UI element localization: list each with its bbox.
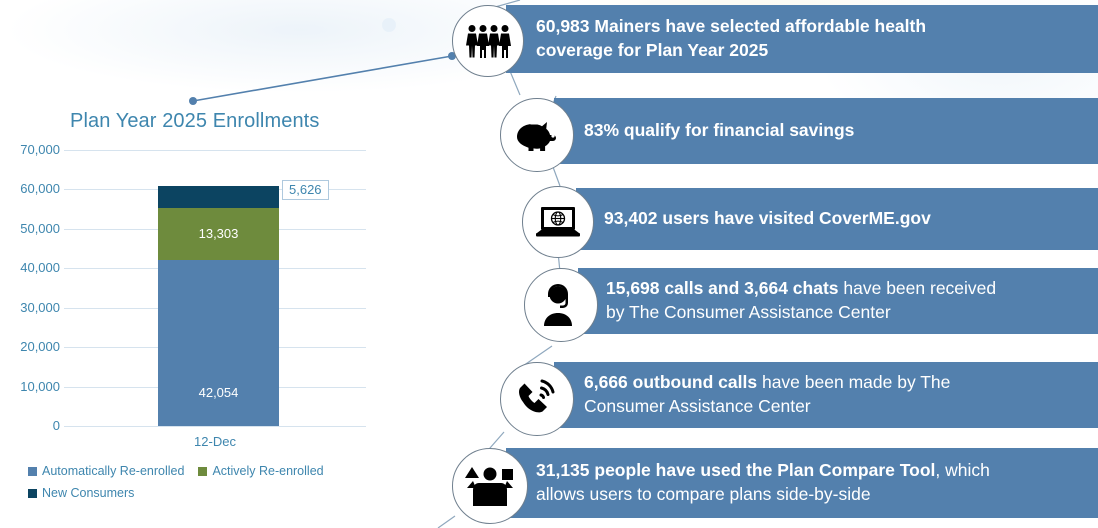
headset-agent-glyph: [538, 284, 584, 326]
stat-band: 31,135 people have used the Plan Compare…: [506, 448, 1098, 518]
stat-text-regular: have been received: [839, 278, 997, 298]
legend-item-new-consumers[interactable]: New Consumers: [28, 486, 134, 500]
ringing-phone-icon: [500, 362, 574, 436]
stat-row-enrollments[interactable]: 60,983 Mainers have selected affordable …: [452, 5, 1098, 85]
stacked-bar-12-dec[interactable]: 13,303 42,054: [158, 186, 279, 426]
legend-swatch: [28, 489, 37, 498]
legend-swatch: [198, 467, 207, 476]
legend-label: Actively Re-enrolled: [212, 464, 323, 478]
stat-row-website-visits[interactable]: 93,402 users have visited CoverME.gov: [522, 188, 1098, 254]
bar-segment-actively-re-enrolled[interactable]: 13,303: [158, 208, 279, 260]
four-people-icon: [452, 5, 524, 77]
stat-text-bold-2: coverage for Plan Year 2025: [536, 40, 768, 60]
stat-row-outbound-calls[interactable]: 6,666 outbound calls have been made by T…: [500, 362, 1098, 440]
stat-text-regular: have been made by The: [757, 372, 950, 392]
laptop-globe-glyph: [534, 203, 582, 241]
y-axis-tick: 70,000: [0, 142, 60, 157]
plan-compare-glyph: [464, 466, 516, 506]
stat-text-bold: 15,698 calls and 3,664 chats: [606, 278, 839, 298]
gridline: [64, 426, 366, 427]
y-axis-tick: 50,000: [0, 221, 60, 236]
bar-segment-automatically-re-enrolled[interactable]: 42,054: [158, 260, 279, 426]
stat-text-regular: , which: [935, 460, 989, 480]
legend-label: Automatically Re-enrolled: [42, 464, 184, 478]
stat-band: 6,666 outbound calls have been made by T…: [554, 362, 1098, 428]
chart-plot-area: 70,000 60,000 50,000 40,000 30,000 20,00…: [64, 150, 366, 426]
stat-text-regular-2: by The Consumer Assistance Center: [606, 302, 891, 322]
piggy-bank-icon: [500, 98, 574, 172]
legend-label: New Consumers: [42, 486, 134, 500]
bar-segment-new-consumers[interactable]: [158, 186, 279, 208]
enrollment-chart: Plan Year 2025 Enrollments 70,000 60,000…: [0, 96, 440, 528]
headset-agent-icon: [524, 268, 598, 342]
legend-item-actively-re-enrolled[interactable]: Actively Re-enrolled: [198, 464, 323, 478]
stat-row-plan-compare-tool[interactable]: 31,135 people have used the Plan Compare…: [452, 448, 1098, 528]
y-axis-tick: 0: [0, 418, 60, 433]
chart-title: Plan Year 2025 Enrollments: [70, 110, 319, 133]
stat-band: 60,983 Mainers have selected affordable …: [506, 5, 1098, 73]
bar-label-actively-re-enrolled: 13,303: [199, 226, 239, 241]
stat-text-regular-2: Consumer Assistance Center: [584, 396, 811, 416]
ringing-phone-glyph: [514, 376, 560, 422]
y-axis-tick: 60,000: [0, 181, 60, 196]
stat-text-bold: 83% qualify for financial savings: [584, 120, 854, 140]
legend-item-automatically-re-enrolled[interactable]: Automatically Re-enrolled: [28, 464, 184, 478]
bar-label-automatically-re-enrolled: 42,054: [199, 385, 239, 400]
watermark-dot: [382, 18, 396, 32]
stat-text-bold: 93,402 users have visited CoverME.gov: [604, 208, 931, 228]
stat-band: 15,698 calls and 3,664 chats have been r…: [578, 268, 1098, 334]
stat-text-bold: 60,983 Mainers have selected affordable …: [536, 16, 926, 36]
y-axis-tick: 10,000: [0, 379, 60, 394]
chart-legend: Automatically Re-enrolled Actively Re-en…: [28, 464, 428, 504]
y-axis-tick: 30,000: [0, 300, 60, 315]
stat-text-bold: 6,666 outbound calls: [584, 372, 757, 392]
four-people-glyph: [465, 24, 511, 58]
legend-swatch: [28, 467, 37, 476]
x-axis-label: 12-Dec: [64, 434, 366, 449]
stat-band: 93,402 users have visited CoverME.gov: [576, 188, 1098, 250]
y-axis-tick: 40,000: [0, 260, 60, 275]
stat-band: 83% qualify for financial savings: [554, 98, 1098, 164]
piggy-bank-glyph: [513, 115, 561, 155]
stat-text-bold: 31,135 people have used the Plan Compare…: [536, 460, 935, 480]
y-axis-tick: 20,000: [0, 339, 60, 354]
laptop-globe-icon: [522, 186, 594, 258]
stat-row-financial-savings[interactable]: 83% qualify for financial savings: [500, 98, 1098, 176]
stat-text-regular-2: allows users to compare plans side-by-si…: [536, 484, 871, 504]
gridline: [64, 150, 366, 151]
plan-compare-icon: [452, 448, 528, 524]
callout-new-consumers: 5,626: [282, 180, 329, 200]
stat-row-calls-chats[interactable]: 15,698 calls and 3,664 chats have been r…: [524, 268, 1098, 350]
